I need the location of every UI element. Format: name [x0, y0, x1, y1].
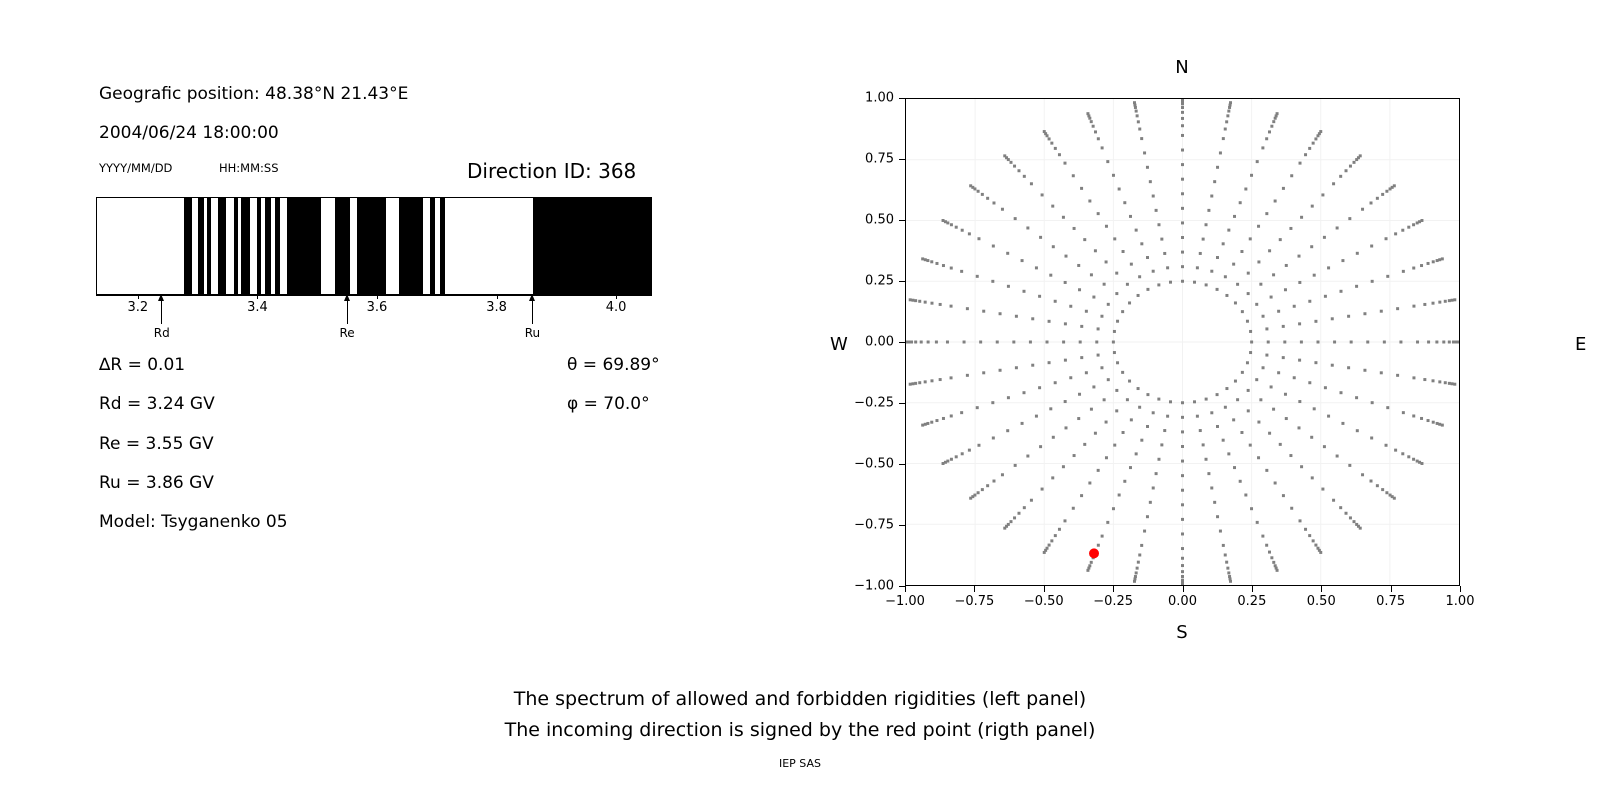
direction-point — [1298, 255, 1301, 258]
direction-point — [1041, 488, 1044, 491]
direction-point — [1265, 137, 1268, 140]
direction-point — [1353, 520, 1356, 523]
direction-point — [1054, 147, 1057, 150]
direction-point — [1356, 429, 1359, 432]
direction-point — [1137, 387, 1140, 390]
direction-point — [986, 197, 989, 200]
rigidity-tick — [138, 295, 139, 299]
forbidden-band — [198, 198, 205, 294]
y-axis-tick — [899, 98, 905, 99]
direction-point — [1140, 544, 1143, 547]
direction-point — [1181, 489, 1184, 492]
direction-point — [1135, 452, 1138, 455]
x-axis-tick — [1391, 586, 1392, 592]
direction-point — [1048, 361, 1051, 364]
direction-point — [1441, 257, 1444, 260]
direction-point — [1227, 452, 1230, 455]
direction-point — [1116, 361, 1119, 364]
direction-point — [1272, 120, 1275, 123]
direction-point — [1314, 137, 1317, 140]
direction-point — [1001, 473, 1004, 476]
direction-point — [907, 341, 910, 344]
direction-point — [1105, 456, 1108, 459]
direction-point — [1112, 174, 1115, 177]
direction-point — [1133, 101, 1136, 104]
direction-point — [911, 299, 914, 302]
direction-point — [1332, 499, 1335, 502]
direction-point — [935, 262, 938, 265]
direction-point — [1216, 393, 1219, 396]
direction-point — [968, 449, 971, 452]
rigidity-axis: 3.23.43.63.84.0RdReRu — [96, 295, 652, 345]
direction-point — [1265, 469, 1268, 472]
direction-point — [1210, 411, 1213, 414]
forbidden-band — [207, 198, 211, 294]
rigidity-tick — [497, 295, 498, 299]
compass-label-west: W — [830, 334, 848, 355]
direction-point — [926, 259, 929, 262]
y-axis-tick-label: −0.25 — [854, 396, 894, 411]
direction-point — [1199, 429, 1202, 432]
direction-map-panel: N S W E −1.00−0.75−0.50−0.250.000.250.50… — [800, 0, 1600, 680]
direction-point — [992, 201, 995, 204]
direction-point — [1224, 406, 1227, 409]
direction-point — [1205, 398, 1208, 401]
direction-point — [1381, 193, 1384, 196]
direction-point — [1385, 491, 1388, 494]
direction-point — [1023, 290, 1026, 293]
direction-point — [1451, 299, 1454, 302]
direction-point — [1009, 520, 1012, 523]
param-re: Re = 3.55 GV — [99, 434, 214, 454]
direction-point — [924, 258, 927, 261]
direction-point — [1285, 264, 1288, 267]
direction-point — [1345, 512, 1348, 515]
direction-point — [1088, 200, 1091, 203]
direction-point — [1225, 561, 1228, 564]
direction-point — [977, 444, 980, 447]
rigidity-marker-label: Re — [340, 326, 355, 340]
geographic-position: Geografic position: 48.38°N 21.43°E — [99, 84, 408, 104]
direction-point — [1311, 476, 1314, 479]
direction-point — [1241, 371, 1244, 374]
direction-point — [1064, 359, 1067, 362]
x-axis-tick — [974, 586, 975, 592]
direction-point — [1298, 426, 1301, 429]
direction-point — [1339, 391, 1342, 394]
x-axis-tick — [905, 586, 906, 592]
x-axis-tick — [1113, 586, 1114, 592]
param-delta-r: ∆R = 0.01 — [99, 355, 185, 375]
arrow-shaft — [161, 298, 162, 324]
y-axis-tick — [899, 220, 905, 221]
direction-point — [1146, 515, 1149, 518]
y-axis-tick — [899, 525, 905, 526]
y-axis-tick — [899, 342, 905, 343]
direction-point — [1407, 455, 1410, 458]
direction-point — [1356, 252, 1359, 255]
direction-point — [942, 462, 945, 465]
forbidden-band — [335, 198, 349, 294]
direction-point — [1435, 341, 1438, 344]
direction-point — [1135, 110, 1138, 113]
direction-point — [1376, 484, 1379, 487]
direction-point — [1118, 493, 1121, 496]
direction-point — [1432, 379, 1435, 382]
direction-point — [1107, 378, 1110, 381]
direction-point — [1324, 386, 1327, 389]
y-axis-tick-label: 0.00 — [865, 335, 894, 350]
direction-point — [1412, 376, 1415, 379]
direction-point — [1181, 192, 1184, 195]
direction-point — [906, 341, 907, 344]
direction-point — [1401, 452, 1404, 455]
direction-point — [1069, 376, 1072, 379]
direction-point — [950, 305, 953, 308]
direction-point — [1064, 322, 1067, 325]
direction-point — [1270, 556, 1273, 559]
direction-point — [1181, 518, 1184, 521]
direction-point — [1113, 444, 1116, 447]
direction-point — [1196, 415, 1199, 418]
caption-line-2: The incoming direction is signed by the … — [0, 719, 1600, 741]
caption-line-1: The spectrum of allowed and forbidden ri… — [0, 688, 1600, 710]
direction-point — [1181, 547, 1184, 550]
direction-point — [992, 436, 995, 439]
direction-point — [1048, 544, 1051, 547]
direction-point — [1355, 285, 1358, 288]
direction-point — [1370, 201, 1373, 204]
direction-point — [1062, 216, 1065, 219]
direction-point — [1086, 112, 1089, 115]
direction-point — [1146, 393, 1149, 396]
direction-point — [930, 260, 933, 263]
direction-point — [1380, 310, 1383, 313]
direction-point — [1136, 567, 1139, 570]
direction-point — [1181, 280, 1184, 283]
direction-point — [1268, 130, 1271, 133]
direction-point — [1152, 486, 1155, 489]
param-phi: φ = 70.0° — [567, 394, 650, 414]
direction-point — [1216, 425, 1219, 428]
direction-point — [1097, 469, 1100, 472]
x-axis-tick-label: 0.25 — [1237, 594, 1266, 609]
direction-point — [1355, 396, 1358, 399]
param-model: Model: Tsyganenko 05 — [99, 512, 288, 532]
direction-point — [1224, 275, 1227, 278]
grid-lines — [906, 99, 1459, 585]
direction-point — [1262, 366, 1265, 369]
direction-point — [1359, 527, 1362, 530]
direction-point — [1246, 361, 1249, 364]
direction-point — [1023, 175, 1026, 178]
direction-point — [1062, 465, 1065, 468]
y-axis-tick-label: −0.50 — [854, 457, 894, 472]
direction-point — [1210, 486, 1213, 489]
direction-point — [1112, 507, 1115, 510]
direction-point — [1349, 165, 1352, 168]
direction-point — [1279, 443, 1282, 446]
direction-point — [1095, 341, 1098, 344]
direction-point — [1336, 455, 1339, 458]
direction-point — [977, 491, 980, 494]
rigidity-marker-label: Ru — [525, 326, 540, 340]
direction-point — [1412, 414, 1415, 417]
direction-point — [1239, 480, 1242, 483]
direction-point — [1314, 544, 1317, 547]
direction-point — [1394, 449, 1397, 452]
direction-point — [1402, 411, 1405, 414]
direction-point — [1458, 341, 1459, 344]
direction-point — [1412, 223, 1415, 226]
direction-point — [939, 378, 942, 381]
direction-point — [1249, 444, 1252, 447]
direction-point — [1106, 160, 1109, 163]
direction-point — [1240, 250, 1243, 253]
direction-point — [1021, 259, 1024, 262]
direction-point — [1051, 476, 1054, 479]
direction-point — [1079, 341, 1082, 344]
direction-point — [1128, 301, 1131, 304]
direction-point — [1257, 421, 1260, 424]
direction-point — [1181, 564, 1184, 567]
x-axis-tick — [1183, 586, 1184, 592]
direction-point — [1283, 341, 1286, 344]
direction-point — [1163, 252, 1166, 255]
x-axis-tick-label: 0.00 — [1168, 594, 1197, 609]
direction-point — [942, 264, 945, 267]
direction-point — [1339, 506, 1342, 509]
direction-point — [1257, 456, 1260, 459]
direction-point — [1181, 503, 1184, 506]
direction-point — [1298, 322, 1301, 325]
rigidity-tick — [377, 295, 378, 299]
direction-point — [1152, 411, 1155, 414]
direction-point — [1143, 530, 1146, 533]
direction-point — [1256, 521, 1259, 524]
direction-point — [1226, 567, 1229, 570]
direction-point — [1101, 146, 1104, 149]
direction-point — [927, 341, 930, 344]
rigidity-tick — [616, 295, 617, 299]
direction-point — [1138, 275, 1141, 278]
direction-point — [1137, 561, 1140, 564]
direction-point — [911, 382, 914, 385]
footer-attribution: IEP SAS — [0, 757, 1600, 770]
forbidden-band — [357, 198, 386, 294]
direction-point — [1118, 188, 1121, 191]
direction-point — [961, 452, 964, 455]
direction-point — [1064, 281, 1067, 284]
direction-point — [976, 275, 979, 278]
direction-point — [1030, 499, 1033, 502]
direction-point — [1361, 473, 1364, 476]
direction-point — [1140, 242, 1143, 245]
direction-point — [1050, 142, 1053, 145]
forbidden-band — [218, 198, 226, 294]
direction-point — [1035, 415, 1038, 418]
rigidity-tick-label: 3.6 — [367, 300, 388, 315]
direction-point — [1298, 400, 1301, 403]
direction-point — [1282, 187, 1285, 190]
direction-point — [1371, 401, 1374, 404]
direction-point — [1349, 516, 1352, 519]
direction-point — [1058, 528, 1061, 531]
direction-point — [1250, 507, 1253, 510]
direction-point — [1049, 274, 1052, 277]
direction-point — [1023, 506, 1026, 509]
direction-point — [1224, 553, 1227, 556]
direction-point — [1083, 443, 1086, 446]
direction-point — [981, 488, 984, 491]
direction-point — [1130, 263, 1133, 266]
direction-point — [999, 369, 1002, 372]
direction-point — [1310, 436, 1313, 439]
direction-point — [1290, 507, 1293, 510]
param-ru: Ru = 3.86 GV — [99, 473, 214, 493]
direction-point — [1181, 460, 1184, 463]
direction-point — [1193, 281, 1196, 284]
direction-point — [1085, 371, 1088, 374]
direction-point — [1080, 187, 1083, 190]
direction-point — [968, 232, 971, 235]
direction-point — [1078, 288, 1081, 291]
direction-point — [1181, 134, 1184, 137]
date-format-hint: YYYY/MM/DD — [99, 161, 172, 175]
direction-point — [950, 267, 953, 270]
direction-point — [1432, 260, 1435, 263]
direction-point — [1146, 256, 1149, 259]
direction-point — [1073, 454, 1076, 457]
direction-point — [1279, 238, 1282, 241]
direction-point — [1065, 426, 1068, 429]
direction-point — [1113, 351, 1116, 354]
direction-point — [1423, 378, 1426, 381]
direction-point — [1143, 151, 1146, 154]
direction-point — [1140, 137, 1143, 140]
direction-point — [1166, 415, 1169, 418]
direction-point — [1249, 237, 1252, 240]
compass-label-south: S — [1176, 622, 1187, 643]
incoming-direction-point — [1089, 548, 1099, 558]
direction-point — [1293, 305, 1296, 308]
direction-point — [1438, 301, 1441, 304]
direction-point — [1202, 443, 1205, 446]
direction-point — [1092, 385, 1095, 388]
direction-point — [1219, 151, 1222, 154]
direction-point — [1412, 458, 1415, 461]
direction-point — [1216, 256, 1219, 259]
direction-point — [969, 184, 972, 187]
direction-map-plot — [905, 98, 1460, 586]
direction-point — [1113, 237, 1116, 240]
direction-point — [1333, 341, 1336, 344]
direction-point — [1339, 290, 1342, 293]
direction-point — [1137, 120, 1140, 123]
direction-point — [1181, 445, 1184, 448]
direction-point — [1250, 341, 1253, 344]
direction-point — [1314, 361, 1317, 364]
x-axis-tick-label: −0.50 — [1024, 594, 1064, 609]
direction-point — [1282, 325, 1285, 328]
direction-point — [1121, 371, 1124, 374]
direction-point — [1310, 245, 1313, 248]
direction-point — [1442, 341, 1445, 344]
direction-point — [1205, 458, 1208, 461]
rigidity-spectrum-bar — [96, 197, 652, 295]
direction-point — [1227, 571, 1230, 574]
direction-point — [1265, 327, 1268, 330]
forbidden-band — [275, 198, 279, 294]
direction-point — [1386, 275, 1389, 278]
y-axis-tick — [899, 403, 905, 404]
direction-point — [1311, 205, 1314, 208]
direction-point — [1319, 130, 1322, 133]
direction-point — [1006, 429, 1009, 432]
direction-point — [1152, 195, 1155, 198]
direction-point — [977, 237, 980, 240]
direction-point — [1438, 258, 1441, 261]
direction-point — [1193, 400, 1196, 403]
direction-point — [1181, 584, 1184, 585]
direction-point — [924, 380, 927, 383]
direction-point — [1149, 501, 1152, 504]
direction-point — [955, 455, 958, 458]
direction-point — [1181, 532, 1184, 535]
direction-point — [1126, 283, 1129, 286]
direction-point — [1115, 389, 1118, 392]
direction-point — [1225, 294, 1228, 297]
direction-point — [1363, 312, 1366, 315]
param-theta: θ = 69.89° — [567, 355, 660, 375]
direction-point — [909, 383, 912, 386]
direction-point — [1054, 381, 1057, 384]
direction-point — [1282, 356, 1285, 359]
direction-point — [1063, 519, 1066, 522]
direction-point — [1265, 354, 1268, 357]
arrow-shaft — [347, 298, 348, 324]
direction-point — [1451, 382, 1454, 385]
direction-point — [1300, 216, 1303, 219]
direction-point — [1052, 436, 1055, 439]
direction-point — [1003, 527, 1006, 530]
direction-point — [1319, 551, 1322, 554]
direction-point — [1265, 212, 1268, 215]
direction-point — [1219, 530, 1222, 533]
direction-point — [1103, 283, 1106, 286]
direction-point — [1402, 270, 1405, 273]
direction-point — [1052, 245, 1055, 248]
direction-point — [1396, 374, 1399, 377]
direction-point — [1401, 229, 1404, 232]
compass-label-north: N — [1175, 57, 1188, 78]
direction-point — [1146, 166, 1149, 169]
direction-point — [1308, 381, 1311, 384]
direction-point — [1157, 458, 1160, 461]
direction-point — [1370, 436, 1373, 439]
direction-point — [1078, 393, 1081, 396]
direction-point — [1138, 406, 1141, 409]
direction-point — [1380, 371, 1383, 374]
direction-point — [1257, 225, 1260, 228]
direction-point — [1233, 466, 1236, 469]
direction-point — [1039, 236, 1042, 239]
direction-point — [1105, 421, 1108, 424]
direction-point — [976, 406, 979, 409]
y-axis-tick-label: 0.50 — [865, 213, 894, 228]
direction-point — [1126, 398, 1129, 401]
direction-point — [1050, 539, 1053, 542]
